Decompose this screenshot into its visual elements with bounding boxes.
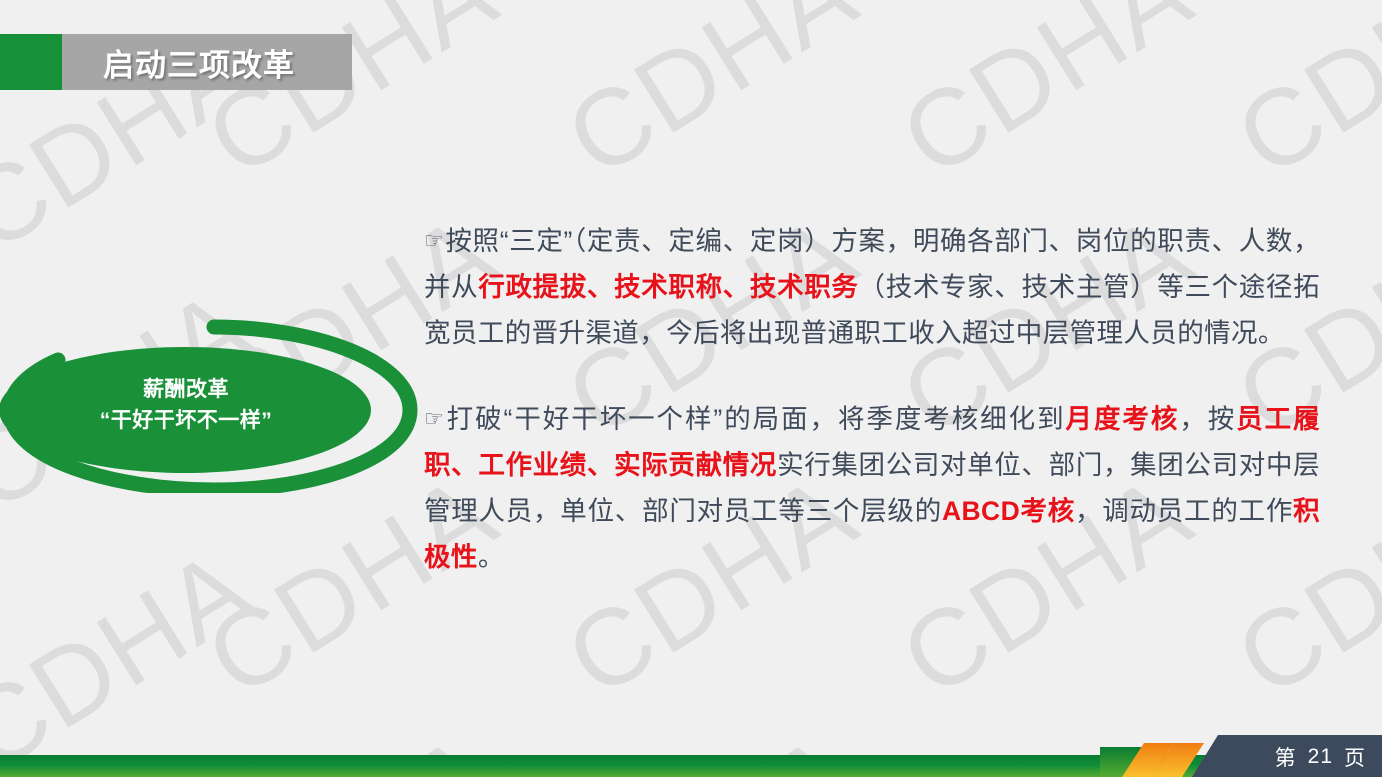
slide-canvas: CDHACDHACDHACDHACDHACDHACDHACDHACDHACDHA… — [0, 0, 1382, 777]
highlight-run: ABCD考核 — [942, 496, 1075, 526]
page-number-value: 21 — [1308, 745, 1333, 769]
badge-graphic: 薪酬改革 “干好干坏不一样” — [0, 318, 436, 493]
body-content: ☞按照“三定”（定责、定编、定岗）方案，明确各部门、岗位的职责、人数，并从行政提… — [424, 218, 1320, 580]
text-run: ，按 — [1179, 404, 1236, 434]
highlight-run: 月度考核 — [1066, 404, 1180, 434]
page-number-group: 第 21 页 — [1275, 737, 1366, 777]
text-run: 打破“干好干坏一个样”的局面，将季度考核细化到 — [445, 404, 1065, 434]
header-accent-block — [0, 34, 62, 90]
text-run: ，调动员工的工作 — [1075, 496, 1293, 526]
badge-shapes — [0, 318, 436, 493]
page-suffix-label: 页 — [1344, 742, 1366, 772]
watermark-text: CDHA — [0, 524, 273, 777]
paragraph-1: ☞按照“三定”（定责、定编、定岗）方案，明确各部门、岗位的职责、人数，并从行政提… — [424, 218, 1320, 356]
paragraph-2: ☞打破“干好干坏一个样”的局面，将季度考核细化到月度考核，按员工履职、工作业绩、… — [424, 396, 1320, 580]
watermark-text: CDHA — [545, 0, 878, 201]
page-title: 启动三项改革 — [103, 34, 295, 90]
watermark-text: CDHA — [1215, 0, 1382, 201]
text-run: 。 — [478, 542, 505, 572]
badge-ellipse-fill — [0, 347, 371, 473]
page-prefix-label: 第 — [1275, 742, 1297, 772]
pointing-hand-icon: ☞ — [424, 406, 444, 431]
pointing-hand-icon: ☞ — [424, 228, 444, 253]
watermark-text: CDHA — [880, 0, 1213, 201]
watermark-text: CDHA — [185, 0, 518, 201]
highlight-run: 行政提拔、技术职称、技术职务 — [478, 272, 858, 302]
